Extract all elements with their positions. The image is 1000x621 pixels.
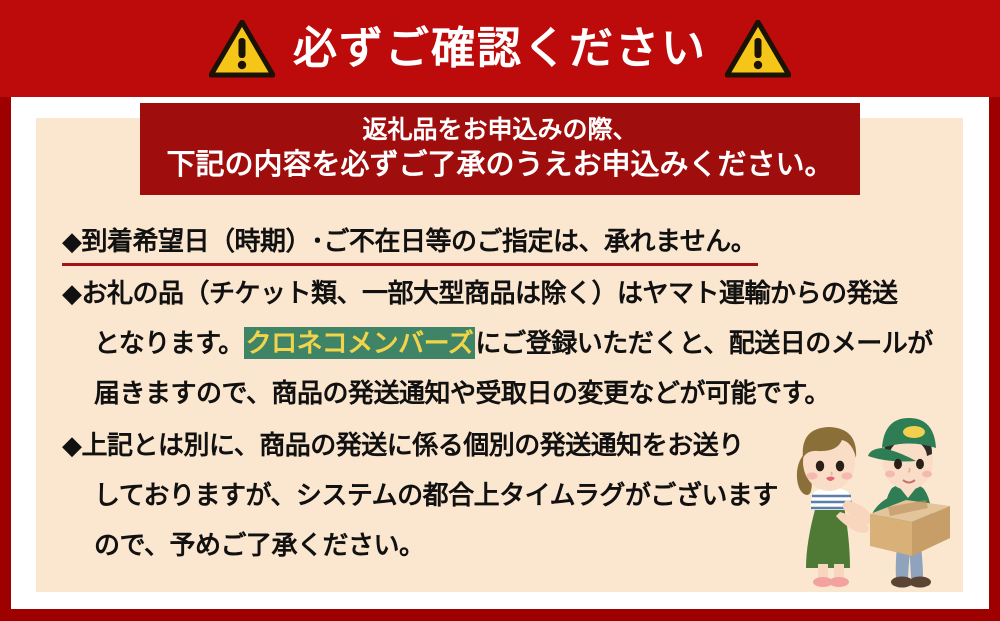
bullet-marker: ◆	[62, 430, 82, 460]
bullet-marker: ◆	[62, 226, 82, 256]
warning-triangle-icon	[725, 20, 791, 78]
bullet-marker: ◆	[62, 278, 82, 308]
page-title: 必ずご確認ください	[293, 27, 707, 71]
notice-text-prefix: となります。	[94, 328, 244, 358]
frame-border-right	[989, 97, 1000, 609]
banner-line-1: 返礼品をお申込みの際、	[362, 115, 637, 146]
frame-border-left	[0, 97, 11, 609]
notice-text: お礼の品（チケット類、一部大型商品は除く）はヤマト運輸からの発送	[82, 278, 898, 308]
notice-line: ◆お礼の品（チケット類、一部大型商品は除く）はヤマト運輸からの発送	[62, 268, 942, 318]
notice-line: ◆到着希望日（時期）･ご不在日等のご指定は、承れません。	[62, 216, 942, 266]
notice-line: となります。クロネコメンバーズにご登録いただくと、配送日のメールが	[62, 318, 942, 368]
header: 必ずご確認ください	[0, 0, 1000, 97]
warning-triangle-icon	[209, 20, 275, 78]
notice-text-suffix: にご登録いただくと、配送日のメールが	[475, 328, 932, 358]
notice-text: 到着希望日（時期）･ご不在日等のご指定は、承れません。	[82, 226, 757, 256]
notice-text: 上記とは別に、商品の発送に係る個別の発送通知をお送り	[82, 430, 744, 460]
banner-line-2: 下記の内容を必ずご了承のうえお申込みください。	[166, 147, 833, 183]
notice-banner-image: 必ずご確認ください 返礼品をお申込みの際、 下記の内容を必ずご了承のうえお申込み…	[0, 0, 1000, 621]
frame-border-bottom	[0, 609, 1000, 621]
delivery-handover-illustration	[778, 396, 964, 592]
notice-banner: 返礼品をお申込みの際、 下記の内容を必ずご了承のうえお申込みください。	[140, 103, 860, 195]
list-item: ◆到着希望日（時期）･ご不在日等のご指定は、承れません。	[62, 216, 942, 266]
kuroneko-members-highlight: クロネコメンバーズ	[244, 327, 476, 359]
